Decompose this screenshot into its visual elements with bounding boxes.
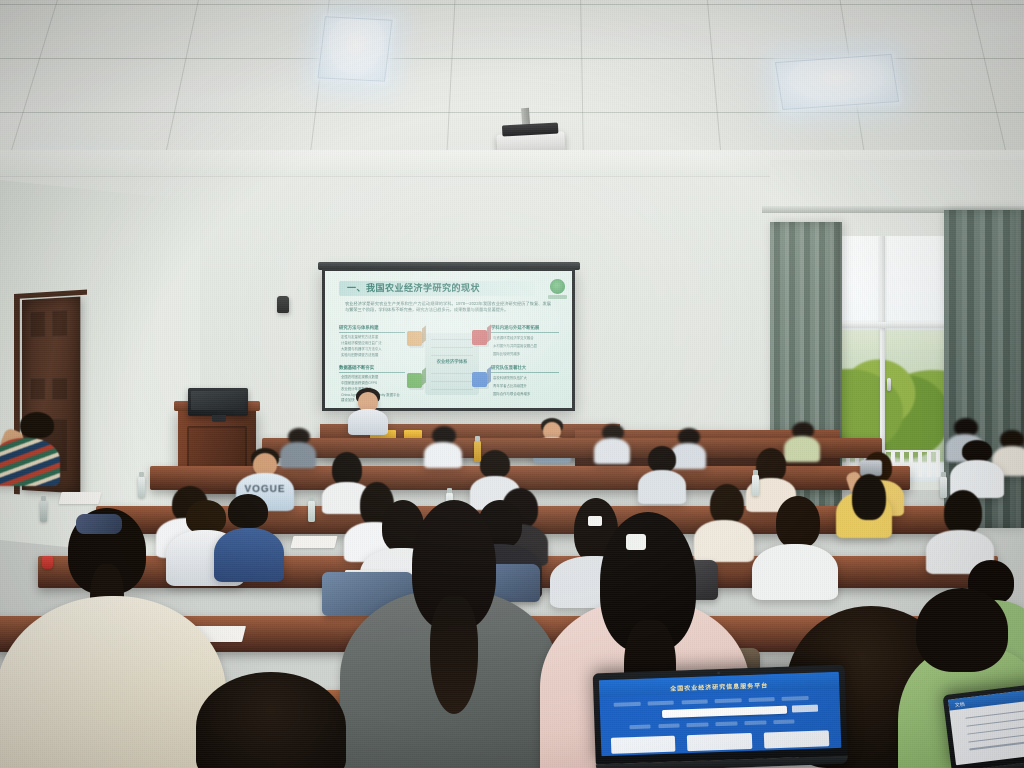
result-card[interactable] [687, 733, 752, 752]
slide-title: 一、我国农业经济学研究的现状 [347, 282, 533, 295]
result-card[interactable] [610, 735, 675, 754]
document-title: 文档 [954, 700, 965, 708]
slide-paragraph: 农业经济学是研究农业生产关系和生产力运动规律的学科。1978—2023年我国农业… [345, 301, 551, 313]
filter-chip[interactable] [744, 720, 766, 725]
nav-tab[interactable] [748, 697, 775, 702]
quadrant-bullet: 中国家庭追踪调查CFPS [341, 381, 401, 386]
quadrant-heading-top-right: 学科内涵与外延不断拓展 [491, 325, 539, 331]
quadrant-bullet: 青年学者占比持续提升 [493, 384, 557, 389]
nav-tab[interactable] [681, 699, 708, 704]
window-handle[interactable] [887, 378, 891, 391]
quadrant-bullet: 与资源环境经济学交叉融合 [493, 336, 557, 341]
diagram-cube-orange [407, 331, 422, 346]
quadrant-bullet: 国际合作与联合培养增多 [493, 392, 557, 397]
ceiling-light-2 [775, 54, 899, 110]
quadrant-heading-top-left: 研究方法与体系构建 [339, 325, 379, 331]
university-logo-caption [548, 295, 567, 299]
search-button[interactable] [792, 705, 819, 713]
paper-handout [59, 492, 102, 504]
wall-speaker [277, 296, 289, 313]
projection-screen: 一、我国农业经济学研究的现状 农业经济学是研究农业生产关系和生产力运动规律的学科… [325, 271, 572, 408]
quadrant-heading-bottom-right: 研究队伍显著壮大 [491, 365, 526, 371]
quadrant-heading-bottom-left: 数据基础不断夯实 [339, 365, 374, 371]
filter-chip[interactable] [629, 724, 651, 729]
diagram-cube-red [472, 330, 487, 345]
quadrant-bullet: 全国农村固定观察点数据 [341, 375, 401, 380]
result-card[interactable] [764, 730, 829, 749]
search-input[interactable] [662, 706, 787, 719]
water-bottle [138, 476, 145, 498]
hair-clip [588, 516, 602, 526]
laptop-screen[interactable]: 全国农业经济研究信息服务平台 [599, 672, 842, 756]
paper-handout [291, 536, 338, 548]
quadrant-bullet: 乡村振兴与共同富裕议题凸显 [493, 344, 557, 349]
lecture-hall-photo: 一、我国农业经济学研究的现状 农业经济学是研究农业生产关系和生产力运动规律的学科… [0, 0, 1024, 768]
quadrant-bullet: 计量经济模型应用日益广泛 [341, 341, 401, 346]
filter-chip[interactable] [716, 721, 738, 726]
quadrant-bullet: 高校科研院所队伍扩大 [493, 376, 557, 381]
laptop-screen[interactable]: 文档 [948, 681, 1024, 765]
presentation-slide: 一、我国农业经济学研究的现状 农业经济学是研究农业生产关系和生产力运动规律的学科… [325, 271, 572, 408]
water-bottle [474, 440, 481, 462]
filter-chip[interactable] [687, 722, 709, 727]
laptop-center-foreground[interactable]: 全国农业经济研究信息服务平台 [593, 665, 848, 768]
water-bottle [752, 474, 759, 496]
water-bottle [40, 500, 47, 522]
nav-tab[interactable] [715, 698, 742, 703]
diagram-center: 农业经济学体系 [425, 333, 479, 395]
nav-tab[interactable] [648, 700, 675, 705]
nav-tab[interactable] [614, 702, 641, 707]
diagram-cube-blue [472, 372, 487, 387]
filter-chip[interactable] [773, 719, 795, 724]
diagram-cube-green [407, 373, 422, 388]
filter-chip[interactable] [658, 723, 680, 728]
water-bottle [308, 500, 315, 522]
webcam-icon [717, 671, 721, 675]
hair-tie [76, 514, 122, 534]
lectern-monitor[interactable] [188, 388, 248, 416]
university-logo-icon [550, 279, 565, 294]
drink-cup [42, 556, 53, 569]
quadrant-bullet: 大数据与机器学习方法引入 [341, 347, 401, 352]
quadrant-body-top-left: 定性与定量研究方法并重 [341, 335, 401, 340]
diagram-center-label: 农业经济学体系 [425, 359, 479, 365]
quadrant-bullet: 实验与田野调查方法拓展 [341, 353, 401, 358]
ceiling-light-1 [317, 16, 392, 82]
hair-clip [626, 534, 646, 550]
water-bottle [940, 476, 947, 498]
nav-tab[interactable] [782, 696, 809, 701]
quadrant-bullet: 国际比较研究增多 [493, 352, 557, 357]
